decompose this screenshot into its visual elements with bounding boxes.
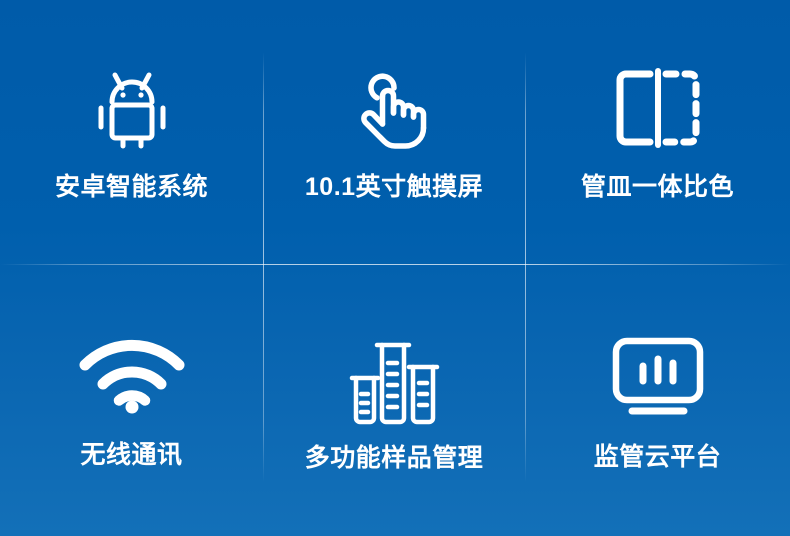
feature-cell-wireless[interactable]: 无线通讯 <box>0 268 263 536</box>
feature-grid: 安卓智能系统 <box>0 0 790 536</box>
tube-cuvette-split-icon <box>614 69 702 147</box>
feature-cell-sample-management[interactable]: 多功能样品管理 <box>263 268 525 536</box>
touch-hand-icon <box>354 69 434 153</box>
test-tubes-icon <box>347 336 441 426</box>
wifi-icon <box>79 339 185 413</box>
feature-cell-cloud-platform[interactable]: 监管云平台 <box>525 268 790 536</box>
monitor-bar-chart-icon <box>612 337 704 417</box>
feature-cell-colorimetry[interactable]: 管皿一体比色 <box>525 0 790 268</box>
feature-label: 无线通讯 <box>80 443 182 468</box>
feature-label: 10.1英寸触摸屏 <box>305 175 483 200</box>
feature-label: 安卓智能系统 <box>55 175 208 200</box>
android-robot-icon <box>86 69 178 149</box>
feature-label: 管皿一体比色 <box>581 175 734 200</box>
feature-label: 多功能样品管理 <box>305 446 484 471</box>
feature-banner: 安卓智能系统 <box>0 0 790 536</box>
feature-cell-touchscreen[interactable]: 10.1英寸触摸屏 <box>263 0 525 268</box>
feature-cell-android-system[interactable]: 安卓智能系统 <box>0 0 263 268</box>
feature-label: 监管云平台 <box>594 445 722 470</box>
